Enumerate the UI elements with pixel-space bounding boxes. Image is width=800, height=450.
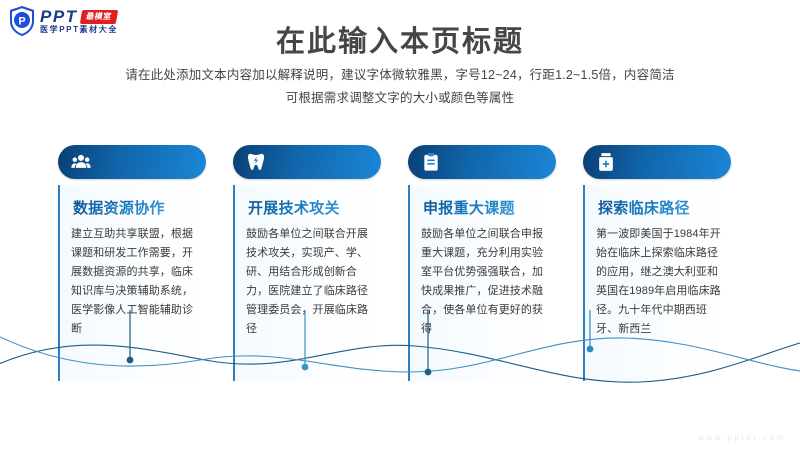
wave-node	[302, 364, 309, 371]
wave-line-back	[0, 340, 800, 382]
subtitle-line-2: 可根据需求调整文字的大小或颜色等属性	[0, 87, 800, 110]
wave-line-front	[0, 332, 800, 372]
card-title: 申报重大课题	[423, 197, 554, 218]
card-header-bar	[583, 145, 731, 179]
card-title: 数据资源协作	[73, 197, 204, 218]
wave-node	[425, 369, 432, 376]
site-watermark: www.ppter.com	[698, 433, 786, 442]
tooth-lightning-icon	[246, 151, 266, 173]
card-header-bar	[408, 145, 556, 179]
wave-node	[587, 346, 594, 353]
subtitle-line-1: 请在此处添加文本内容加以解释说明，建议字体微软雅黑，字号12~24，行距1.2~…	[0, 64, 800, 87]
wave-node	[127, 357, 134, 364]
slide-canvas: P PPT 最模室 医学PPT素材大全 在此输入本页标题 请在此处添加文本内容加…	[0, 0, 800, 450]
clipboard-icon	[421, 151, 441, 173]
card-header-bar	[58, 145, 206, 179]
card-header-bar	[233, 145, 381, 179]
page-title: 在此输入本页标题	[0, 18, 800, 60]
card-title: 开展技术攻关	[248, 197, 379, 218]
wave-decoration	[0, 310, 800, 450]
group-people-icon	[71, 151, 91, 173]
card-title: 探索临床路径	[598, 197, 729, 218]
page-subtitle: 请在此处添加文本内容加以解释说明，建议字体微软雅黑，字号12~24，行距1.2~…	[0, 64, 800, 110]
medicine-bottle-icon	[596, 151, 616, 173]
